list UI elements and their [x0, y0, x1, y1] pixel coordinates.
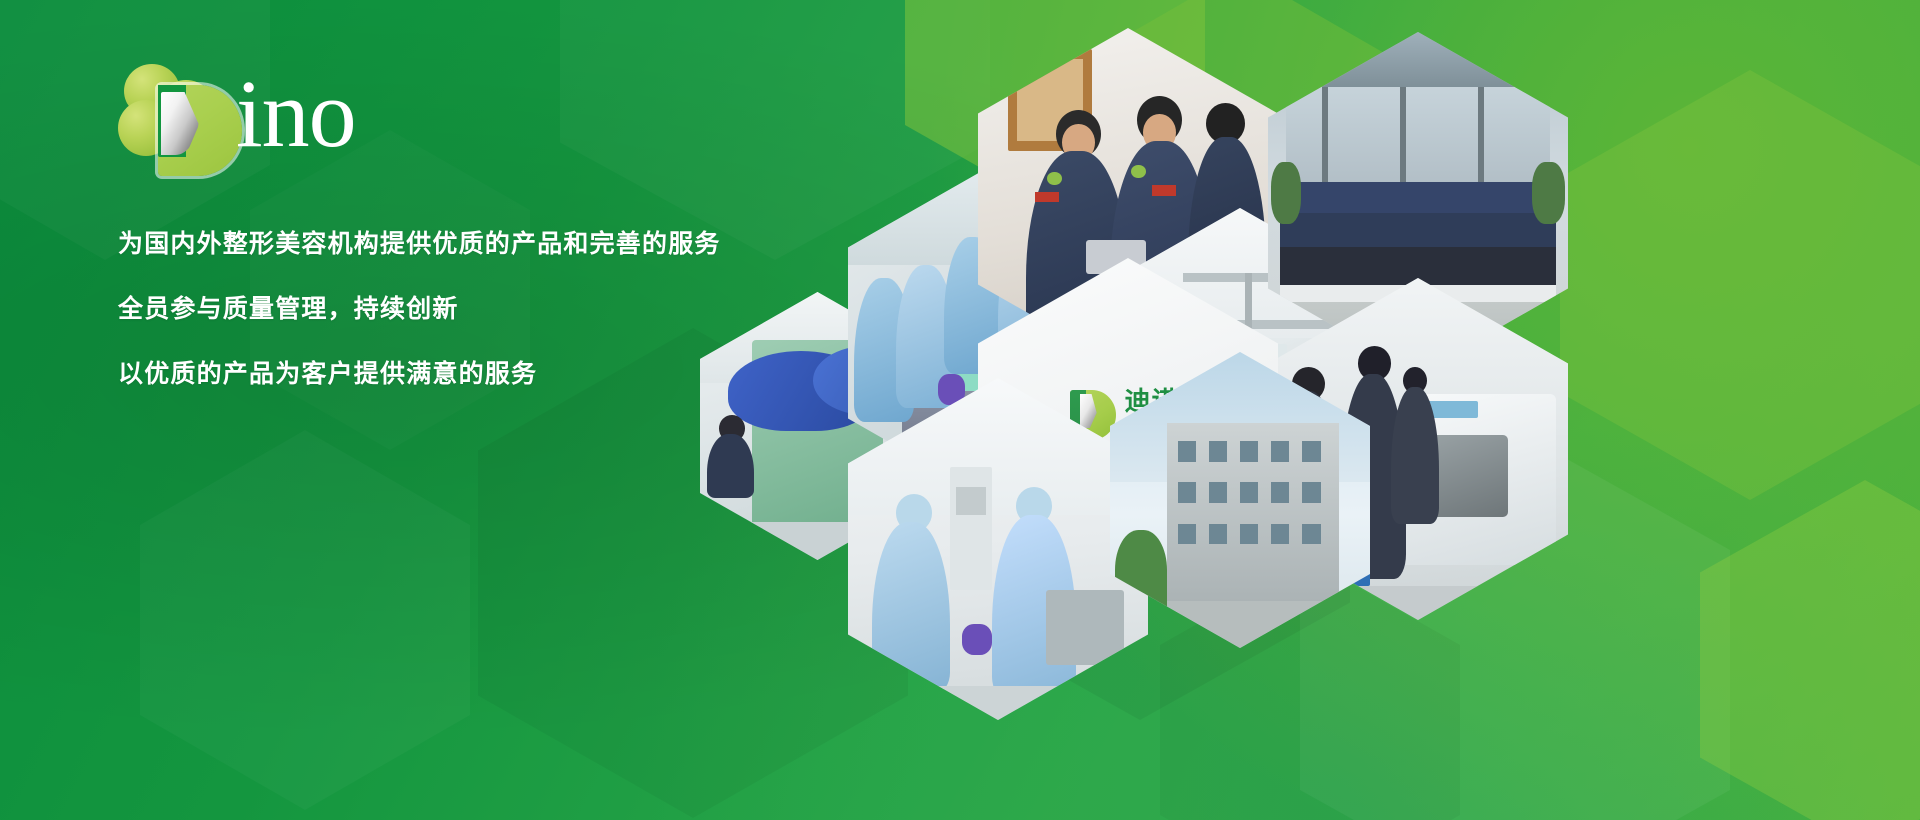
tagline-2: 全员参与质量管理，持续创新 [118, 289, 860, 325]
logo-d-mark-icon [158, 85, 242, 176]
dino-logo: ino [110, 58, 420, 178]
logo-wordmark: ino [236, 66, 356, 162]
tagline-1: 为国内外整形美容机构提供优质的产品和完善的服务 [118, 224, 860, 260]
hexagon-photo-cluster: 迪诺® Dino Hangzhou Dino Medical Instrumen… [780, 60, 1920, 760]
hero-banner: ino 为国内外整形美容机构提供优质的产品和完善的服务 全员参与质量管理，持续创… [0, 0, 1920, 820]
